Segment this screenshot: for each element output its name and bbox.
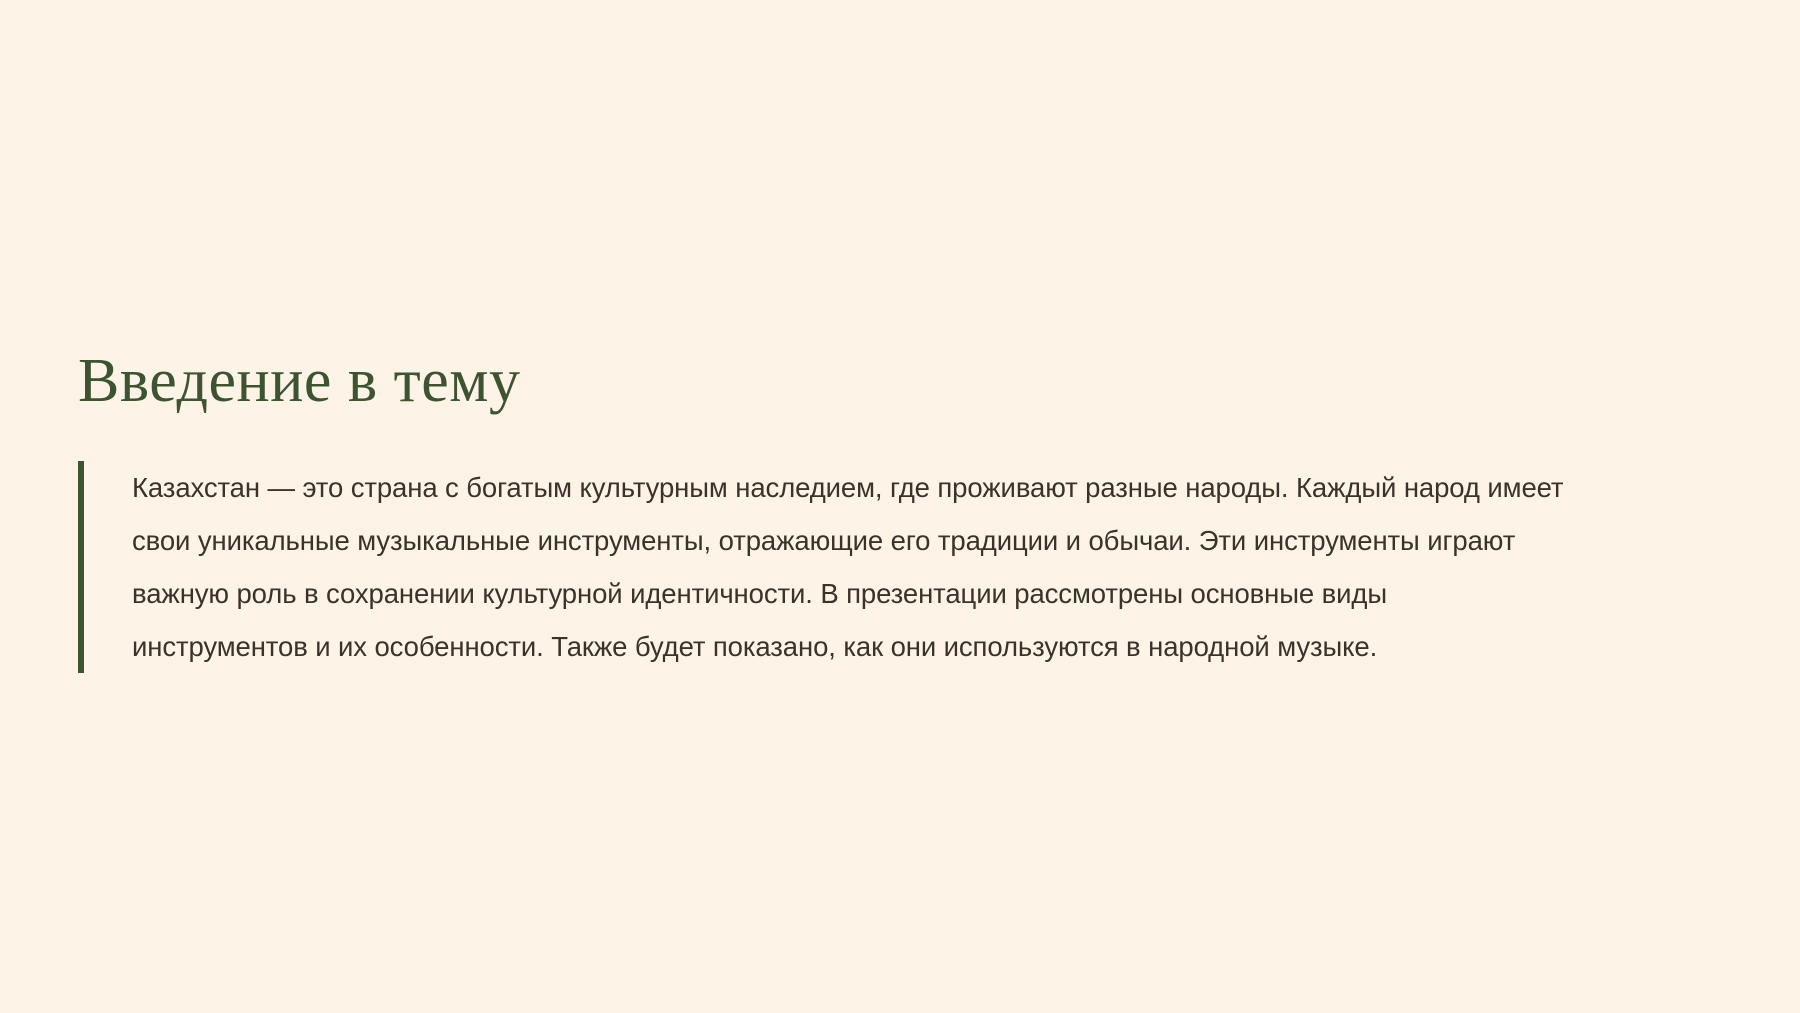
slide-canvas: Введение в тему Казахстан — это страна с… bbox=[0, 0, 1800, 1013]
body-line: свои уникальные музыкальные инструменты,… bbox=[132, 514, 1542, 567]
page-title: Введение в тему bbox=[78, 345, 521, 417]
body-line: Казахстан — это страна с богатым культур… bbox=[132, 461, 1542, 514]
body-quote-block: Казахстан — это страна с богатым культур… bbox=[78, 461, 1738, 673]
body-paragraph: Казахстан — это страна с богатым культур… bbox=[84, 461, 1542, 673]
body-line: инструментов и их особенности. Также буд… bbox=[132, 620, 1542, 673]
body-line: важную роль в сохранении культурной иден… bbox=[132, 567, 1542, 620]
